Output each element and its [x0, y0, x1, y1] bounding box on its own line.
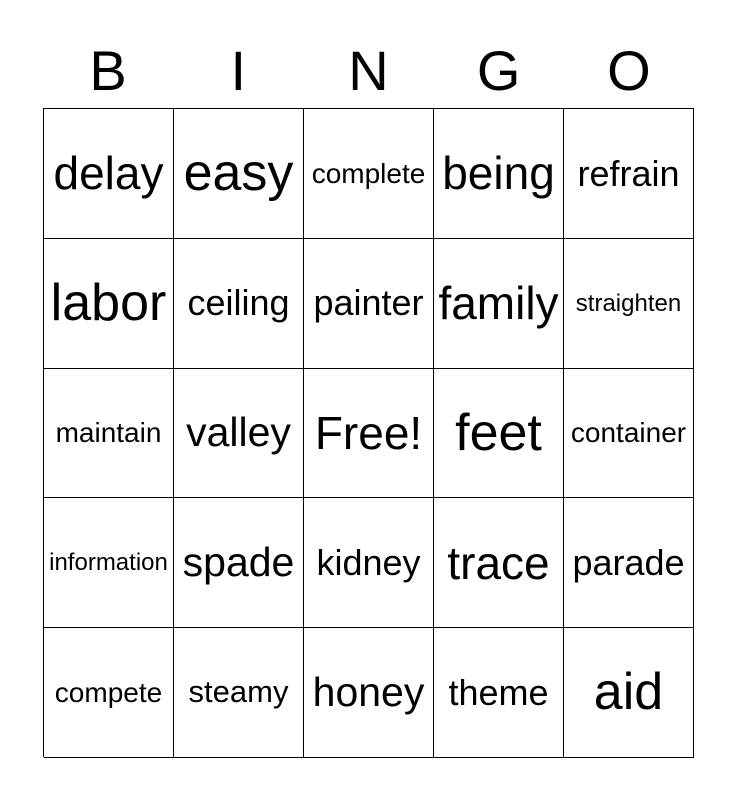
bingo-cell-free-space[interactable]: Free!	[304, 369, 434, 499]
bingo-cell-label: theme	[448, 674, 548, 712]
bingo-cell-label: spade	[183, 541, 295, 584]
header-letter-i: I	[173, 34, 303, 108]
bingo-cell-o4[interactable]: parade	[564, 498, 694, 628]
bingo-cell-n2[interactable]: painter	[304, 239, 434, 369]
free-space-label: Free!	[315, 409, 422, 457]
bingo-cell-g3[interactable]: feet	[434, 369, 564, 499]
bingo-cell-i4[interactable]: spade	[174, 498, 304, 628]
bingo-cell-g2[interactable]: family	[434, 239, 564, 369]
bingo-row-5: compete steamy honey theme aid	[44, 628, 694, 758]
bingo-cell-label: ceiling	[187, 284, 289, 322]
bingo-cell-g5[interactable]: theme	[434, 628, 564, 758]
bingo-cell-label: refrain	[577, 155, 679, 193]
bingo-cell-label: painter	[313, 284, 423, 322]
bingo-cell-b4[interactable]: information	[44, 498, 174, 628]
bingo-cell-b2[interactable]: labor	[44, 239, 174, 369]
header-letter-g: G	[434, 34, 564, 108]
bingo-cell-label: valley	[186, 411, 291, 454]
bingo-cell-n5[interactable]: honey	[304, 628, 434, 758]
bingo-cell-label: delay	[54, 149, 164, 197]
bingo-row-3: maintain valley Free! feet container	[44, 369, 694, 499]
header-letter-o: O	[564, 34, 694, 108]
bingo-cell-label: family	[438, 279, 558, 327]
header-letter-b: B	[43, 34, 173, 108]
bingo-cell-label: easy	[184, 146, 294, 201]
bingo-cell-label: honey	[313, 671, 425, 714]
bingo-cell-n1[interactable]: complete	[304, 109, 434, 239]
header-letter-n: N	[303, 34, 433, 108]
bingo-cell-label: information	[49, 550, 168, 575]
bingo-cell-label: being	[442, 149, 555, 197]
bingo-row-2: labor ceiling painter family straighten	[44, 239, 694, 369]
bingo-cell-label: steamy	[189, 676, 289, 709]
bingo-cell-i2[interactable]: ceiling	[174, 239, 304, 369]
bingo-cell-g1[interactable]: being	[434, 109, 564, 239]
bingo-card: B I N G O delay easy complete being refr…	[0, 0, 736, 800]
bingo-cell-label: trace	[447, 539, 549, 587]
bingo-cell-o1[interactable]: refrain	[564, 109, 694, 239]
bingo-cell-b5[interactable]: compete	[44, 628, 174, 758]
bingo-cell-label: feet	[455, 406, 542, 461]
bingo-cell-label: parade	[572, 544, 684, 582]
bingo-cell-label: compete	[55, 678, 162, 707]
bingo-cell-label: container	[571, 418, 686, 447]
bingo-cell-o2[interactable]: straighten	[564, 239, 694, 369]
bingo-cell-label: complete	[312, 159, 426, 188]
bingo-grid: delay easy complete being refrain labor …	[43, 108, 694, 757]
bingo-cell-label: maintain	[56, 418, 162, 447]
bingo-row-4: information spade kidney trace parade	[44, 498, 694, 628]
bingo-cell-i5[interactable]: steamy	[174, 628, 304, 758]
bingo-cell-n4[interactable]: kidney	[304, 498, 434, 628]
bingo-cell-label: labor	[51, 276, 167, 331]
bingo-row-1: delay easy complete being refrain	[44, 109, 694, 239]
bingo-cell-label: straighten	[576, 291, 681, 316]
bingo-cell-b1[interactable]: delay	[44, 109, 174, 239]
bingo-cell-b3[interactable]: maintain	[44, 369, 174, 499]
bingo-cell-g4[interactable]: trace	[434, 498, 564, 628]
bingo-cell-i1[interactable]: easy	[174, 109, 304, 239]
bingo-cell-i3[interactable]: valley	[174, 369, 304, 499]
bingo-cell-label: kidney	[316, 544, 420, 582]
bingo-cell-o3[interactable]: container	[564, 369, 694, 499]
bingo-cell-label: aid	[594, 665, 663, 720]
bingo-cell-o5[interactable]: aid	[564, 628, 694, 758]
bingo-header: B I N G O	[43, 34, 694, 108]
